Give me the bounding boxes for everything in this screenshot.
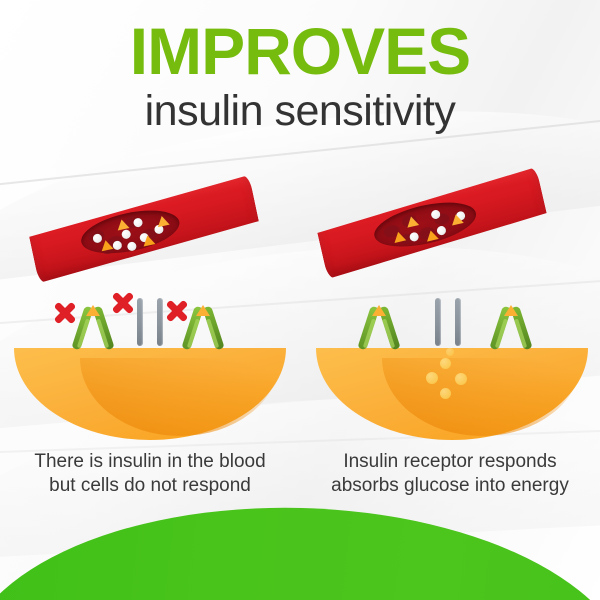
blood-vessel-left xyxy=(26,175,262,283)
infographic-poster: IMPROVES insulin sensitivity xyxy=(0,0,600,600)
insulin-receptor xyxy=(362,304,396,350)
absorbed-glucose-dot xyxy=(446,348,454,356)
cell-shading xyxy=(382,358,582,436)
insulin-molecule xyxy=(127,241,138,252)
absorbed-glucose-dot xyxy=(440,358,451,369)
cell-shading xyxy=(80,358,280,436)
channel-bar-right xyxy=(157,298,163,346)
glucose-molecule xyxy=(425,229,439,241)
glucose-molecule xyxy=(504,305,518,316)
glucose-molecule xyxy=(405,215,419,227)
insulin-receptor xyxy=(76,304,110,350)
caption-right-line1: Insulin receptor responds xyxy=(300,450,600,474)
cell-membrane xyxy=(14,348,286,440)
page-subtitle: insulin sensitivity xyxy=(0,88,600,135)
channel-bar-left xyxy=(137,298,143,346)
glucose-molecule xyxy=(450,213,464,225)
insulin-receptor xyxy=(186,304,220,350)
glucose-molecule xyxy=(116,218,130,230)
body-cell-left xyxy=(0,320,300,440)
absorbed-glucose-dot xyxy=(426,372,438,384)
absorbed-glucose-dot xyxy=(440,388,451,399)
body-cell-right xyxy=(300,320,600,440)
x-mark-icon xyxy=(164,298,190,324)
blood-vessel-right xyxy=(314,167,550,279)
absorbed-glucose-dot xyxy=(455,373,467,385)
channel-bar-left xyxy=(435,298,441,346)
insulin-molecule xyxy=(133,217,144,228)
insulin-molecule xyxy=(121,229,132,240)
glucose-molecule xyxy=(142,234,156,246)
caption-right: Insulin receptor responds absorbs glucos… xyxy=(300,450,600,499)
caption-left-line1: There is insulin in the blood xyxy=(0,450,300,474)
glucose-molecule xyxy=(156,215,170,227)
glucose-channel-open xyxy=(428,298,468,346)
caption-left: There is insulin in the blood but cells … xyxy=(0,450,300,499)
insulin-receptor xyxy=(494,304,528,350)
caption-left-line2: but cells do not respond xyxy=(0,474,300,498)
x-mark-icon xyxy=(110,290,136,316)
page-title: IMPROVES xyxy=(0,18,600,84)
glucose-molecule xyxy=(86,305,100,316)
cell-membrane xyxy=(316,348,588,440)
glucose-molecule xyxy=(196,305,210,316)
glucose-molecule xyxy=(372,305,386,316)
x-mark-icon xyxy=(52,300,78,326)
channel-bar-right xyxy=(455,298,461,346)
title-block: IMPROVES insulin sensitivity xyxy=(0,18,600,135)
caption-right-line2: absorbs glucose into energy xyxy=(300,474,600,498)
